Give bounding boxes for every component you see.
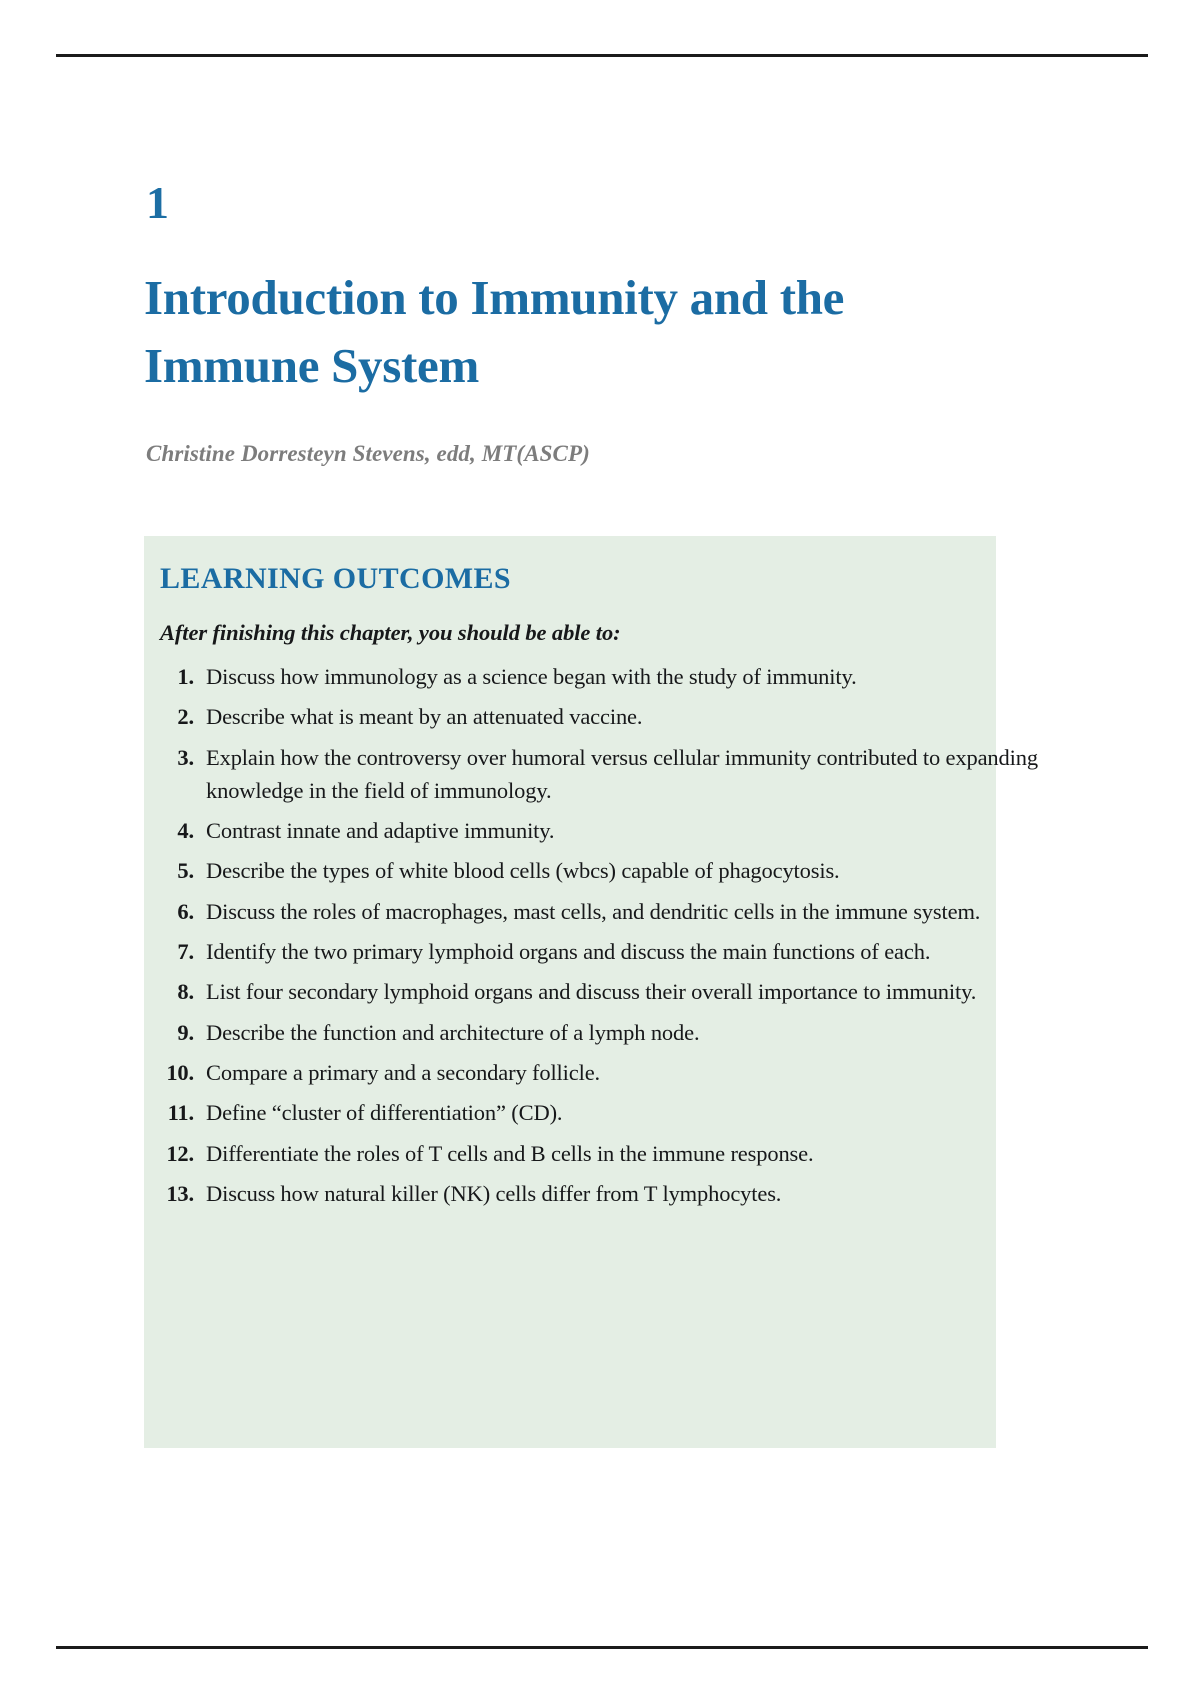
learning-outcome-text: Discuss the roles of macrophages, mast c… bbox=[206, 895, 1044, 928]
learning-outcome-item: 12.Differentiate the roles of T cells an… bbox=[144, 1137, 1044, 1170]
chapter-number: 1 bbox=[146, 180, 1016, 226]
learning-outcome-number: 8. bbox=[144, 975, 194, 1008]
learning-outcome-item: 6.Discuss the roles of macrophages, mast… bbox=[144, 895, 1044, 928]
footer-rule bbox=[56, 1646, 1148, 1649]
learning-outcome-number: 4. bbox=[144, 814, 194, 847]
chapter-opener: 1 Introduction to Immunity and the Immun… bbox=[144, 180, 1016, 467]
learning-outcome-text: Discuss how immunology as a science bega… bbox=[206, 660, 1044, 693]
learning-outcome-text: Describe the function and architecture o… bbox=[206, 1016, 1044, 1049]
learning-outcome-number: 6. bbox=[144, 895, 194, 928]
learning-outcome-text: Explain how the controversy over humoral… bbox=[206, 741, 1044, 808]
learning-outcomes-list: 1.Discuss how immunology as a science be… bbox=[144, 660, 1044, 1210]
page-title: Introduction to Immunity and the Immune … bbox=[144, 264, 1024, 399]
learning-outcome-item: 11.Define “cluster of differentiation” (… bbox=[144, 1096, 1044, 1129]
learning-outcomes-lead: After finishing this chapter, you should… bbox=[160, 620, 1044, 646]
learning-outcome-number: 2. bbox=[144, 700, 194, 733]
learning-outcome-number: 1. bbox=[144, 660, 194, 693]
author-byline: Christine Dorresteyn Stevens, edd, MT(AS… bbox=[146, 441, 1016, 467]
learning-outcome-item: 13.Discuss how natural killer (NK) cells… bbox=[144, 1177, 1044, 1210]
learning-outcome-item: 8.List four secondary lymphoid organs an… bbox=[144, 975, 1044, 1008]
learning-outcome-text: Contrast innate and adaptive immunity. bbox=[206, 814, 1044, 847]
learning-outcome-item: 2.Describe what is meant by an attenuate… bbox=[144, 700, 1044, 733]
learning-outcomes-heading: LEARNING OUTCOMES bbox=[160, 562, 1044, 596]
learning-outcome-text: Differentiate the roles of T cells and B… bbox=[206, 1137, 1044, 1170]
learning-outcome-item: 9.Describe the function and architecture… bbox=[144, 1016, 1044, 1049]
learning-outcome-text: Compare a primary and a secondary follic… bbox=[206, 1056, 1044, 1089]
learning-outcome-item: 1.Discuss how immunology as a science be… bbox=[144, 660, 1044, 693]
learning-outcome-number: 5. bbox=[144, 854, 194, 887]
learning-outcome-text: List four secondary lymphoid organs and … bbox=[206, 975, 1044, 1008]
learning-outcomes-content: LEARNING OUTCOMES After finishing this c… bbox=[144, 536, 1044, 1217]
learning-outcome-number: 13. bbox=[144, 1177, 194, 1210]
learning-outcome-number: 3. bbox=[144, 741, 194, 774]
learning-outcome-number: 9. bbox=[144, 1016, 194, 1049]
learning-outcome-text: Describe the types of white blood cells … bbox=[206, 854, 1044, 887]
learning-outcome-item: 10.Compare a primary and a secondary fol… bbox=[144, 1056, 1044, 1089]
learning-outcome-text: Discuss how natural killer (NK) cells di… bbox=[206, 1177, 1044, 1210]
learning-outcome-item: 4.Contrast innate and adaptive immunity. bbox=[144, 814, 1044, 847]
learning-outcome-item: 7.Identify the two primary lymphoid orga… bbox=[144, 935, 1044, 968]
header-rule bbox=[56, 54, 1148, 57]
learning-outcome-number: 12. bbox=[144, 1137, 194, 1170]
learning-outcome-text: Describe what is meant by an attenuated … bbox=[206, 700, 1044, 733]
learning-outcome-text: Identify the two primary lymphoid organs… bbox=[206, 935, 1044, 968]
learning-outcome-number: 11. bbox=[144, 1096, 194, 1129]
learning-outcome-item: 3.Explain how the controversy over humor… bbox=[144, 741, 1044, 808]
learning-outcome-item: 5.Describe the types of white blood cell… bbox=[144, 854, 1044, 887]
learning-outcome-text: Define “cluster of differentiation” (CD)… bbox=[206, 1096, 1044, 1129]
learning-outcome-number: 10. bbox=[144, 1056, 194, 1089]
learning-outcome-number: 7. bbox=[144, 935, 194, 968]
document-page: 1 Introduction to Immunity and the Immun… bbox=[0, 0, 1200, 1700]
